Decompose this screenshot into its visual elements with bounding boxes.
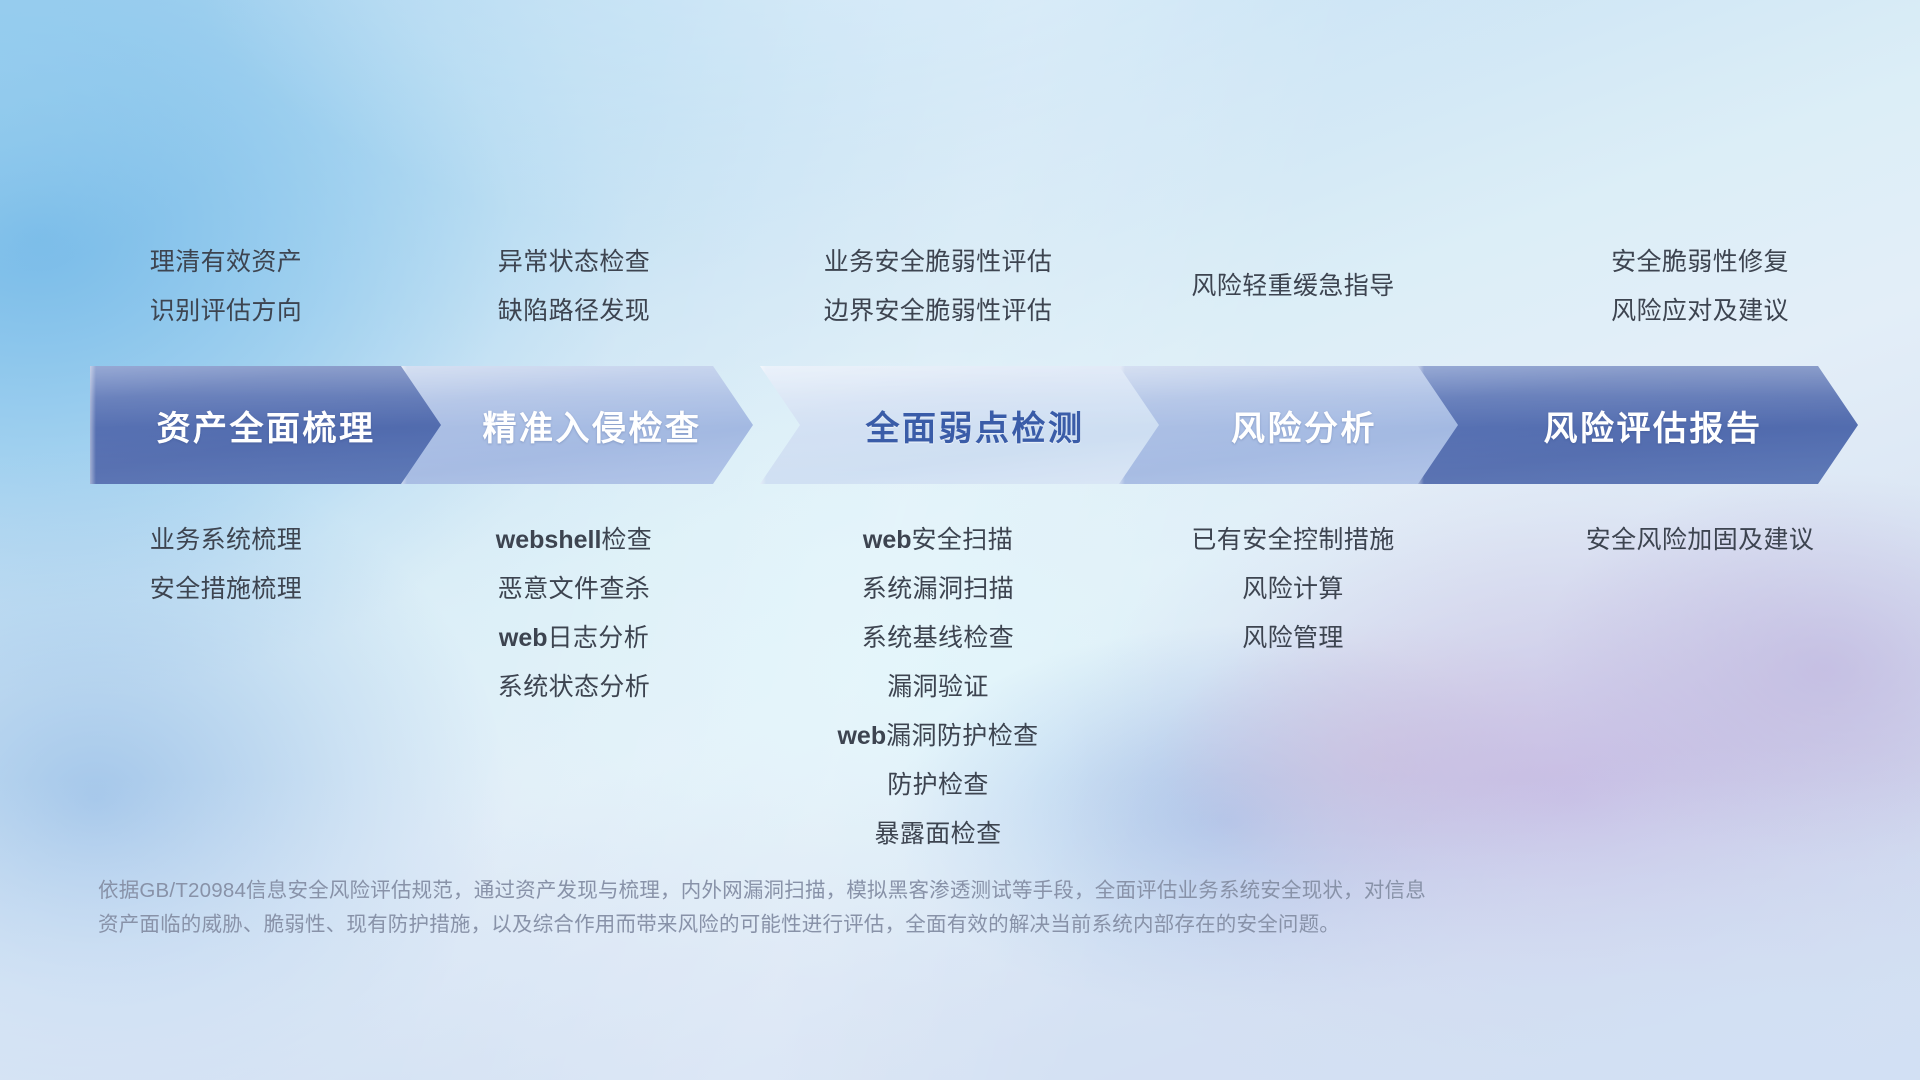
- stage-bottom-items-asset-inventory: 业务系统梳理安全措施梳理: [150, 516, 302, 614]
- process-arrow-label-asset-inventory: 资产全面梳理: [157, 401, 376, 450]
- stage-top-item: 业务安全脆弱性评估: [824, 238, 1053, 287]
- stage-top-item: 边界安全脆弱性评估: [824, 287, 1053, 336]
- stage-top-item: 安全脆弱性修复: [1611, 238, 1789, 287]
- process-arrow-label-assessment-report: 风险评估报告: [1514, 401, 1763, 450]
- stage-bottom-item-latin: web: [863, 526, 912, 554]
- stage-top-item: 缺陷路径发现: [498, 287, 650, 336]
- footnote-line-2: 资产面临的威胁、脆弱性、现有防护措施，以及综合作用而带来风险的可能性进行评估，全…: [98, 908, 1738, 942]
- stage-top-items-risk-analysis: 风险轻重缓急指导: [1191, 262, 1394, 311]
- process-arrow-band: 资产全面梳理精准入侵检查全面弱点检测风险分析风险评估报告: [0, 366, 1920, 484]
- process-arrow-label-weakness-detection: 全面弱点检测: [836, 401, 1085, 450]
- stage-bottom-item: 风险管理: [1191, 614, 1394, 663]
- stage-bottom-item: 已有安全控制措施: [1191, 516, 1394, 565]
- stage-bottom-item: 暴露面检查: [837, 810, 1038, 859]
- stage-bottom-item: 系统漏洞扫描: [837, 565, 1038, 614]
- stage-bottom-item: 漏洞验证: [837, 663, 1038, 712]
- stage-bottom-item: 风险计算: [1191, 565, 1394, 614]
- stage-top-item: 理清有效资产: [150, 238, 302, 287]
- stage-bottom-item: 系统状态分析: [496, 663, 652, 712]
- process-arrow-asset-inventory[interactable]: 资产全面梳理: [90, 366, 442, 484]
- slide-canvas: 理清有效资产识别评估方向 异常状态检查缺陷路径发现 业务安全脆弱性评估边界安全脆…: [0, 0, 1920, 1080]
- stage-top-item: 风险轻重缓急指导: [1191, 262, 1394, 311]
- stage-bottom-items-weakness-detection: web安全扫描系统漏洞扫描系统基线检查漏洞验证web漏洞防护检查防护检查暴露面检…: [837, 516, 1038, 859]
- stage-bottom-item-latin: web: [499, 624, 548, 652]
- stage-bottom-item-latin: webshell: [496, 526, 602, 554]
- stage-bottom-item: 安全措施梳理: [150, 565, 302, 614]
- stage-bottom-item-latin: web: [837, 722, 886, 750]
- process-arrow-weakness-detection[interactable]: 全面弱点检测: [760, 366, 1160, 484]
- stage-bottom-item: web安全扫描: [837, 516, 1038, 565]
- process-arrow-intrusion-check[interactable]: 精准入侵检查: [401, 366, 753, 484]
- stage-bottom-item: 恶意文件查杀: [496, 565, 652, 614]
- stage-bottom-item: 系统基线检查: [837, 614, 1038, 663]
- stage-top-item: 风险应对及建议: [1611, 287, 1789, 336]
- stage-bottom-items-intrusion-check: webshell检查恶意文件查杀web日志分析系统状态分析: [496, 516, 652, 712]
- stage-bottom-items-assessment-report: 安全风险加固及建议: [1586, 516, 1815, 565]
- footnote-line-1: 依据GB/T20984信息安全风险评估规范，通过资产发现与梳理，内外网漏洞扫描，…: [98, 874, 1738, 908]
- process-arrow-assessment-report[interactable]: 风险评估报告: [1418, 366, 1858, 484]
- stage-bottom-item: 业务系统梳理: [150, 516, 302, 565]
- stage-bottom-item: 防护检查: [837, 761, 1038, 810]
- process-arrow-label-risk-analysis: 风险分析: [1201, 401, 1377, 450]
- stage-top-item: 异常状态检查: [498, 238, 650, 287]
- footnote-paragraph: 依据GB/T20984信息安全风险评估规范，通过资产发现与梳理，内外网漏洞扫描，…: [98, 874, 1738, 942]
- stage-top-item: 识别评估方向: [150, 287, 302, 336]
- stage-top-items-weakness-detection: 业务安全脆弱性评估边界安全脆弱性评估: [824, 238, 1053, 336]
- process-arrow-risk-analysis[interactable]: 风险分析: [1119, 366, 1459, 484]
- stage-top-items-intrusion-check: 异常状态检查缺陷路径发现: [498, 238, 650, 336]
- stage-top-items-asset-inventory: 理清有效资产识别评估方向: [150, 238, 302, 336]
- stage-bottom-item: web漏洞防护检查: [837, 712, 1038, 761]
- stage-bottom-item: webshell检查: [496, 516, 652, 565]
- stage-bottom-item: 安全风险加固及建议: [1586, 516, 1815, 565]
- stage-bottom-items-risk-analysis: 已有安全控制措施风险计算风险管理: [1191, 516, 1394, 663]
- stage-bottom-item: web日志分析: [496, 614, 652, 663]
- stage-top-items-assessment-report: 安全脆弱性修复风险应对及建议: [1611, 238, 1789, 336]
- process-arrow-label-intrusion-check: 精准入侵检查: [453, 401, 702, 450]
